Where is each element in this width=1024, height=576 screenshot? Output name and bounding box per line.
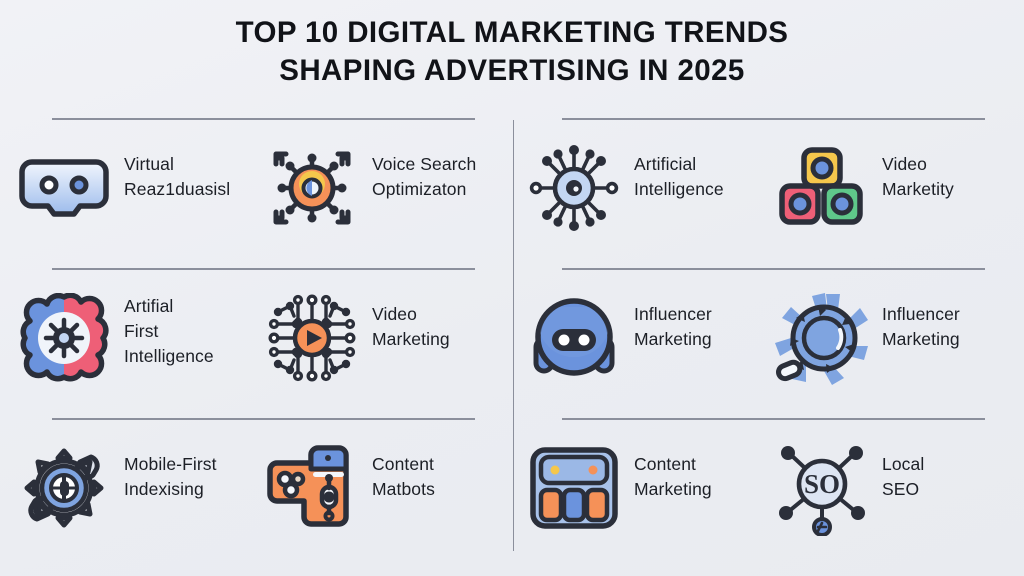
right-row-1: Artificial Intelligence Video Marketity <box>524 118 1021 268</box>
trend-item[interactable]: Artificial Intelligence <box>524 132 772 262</box>
trend-item[interactable]: Content Marketing <box>524 432 772 562</box>
trend-label: Local SEO <box>882 432 924 502</box>
trend-label: Influencer Marketing <box>882 282 960 352</box>
trend-label: Virtual Reaz1duasisl <box>124 132 230 202</box>
trend-label: Content Matbots <box>372 432 435 502</box>
row-divider <box>52 418 475 420</box>
right-row-3: Content Marketing <box>524 418 1021 568</box>
chatbot-phone-icon <box>262 432 362 544</box>
trend-label: Mobile-First Indexising <box>124 432 217 502</box>
trend-item[interactable]: Influencer Marketing <box>524 282 772 412</box>
trend-label: Voice Search Optimizaton <box>372 132 476 202</box>
trend-label: Influencer Marketing <box>634 282 712 352</box>
blue-gear-icon <box>772 282 872 394</box>
video-network-play-icon <box>262 282 362 394</box>
trend-item[interactable]: Artifial First Intelligence <box>14 282 262 412</box>
voice-search-gear-icon <box>262 132 362 244</box>
trend-label: Content Marketing <box>634 432 712 502</box>
row-divider <box>562 118 985 120</box>
trend-item[interactable]: Video Marketing <box>262 282 510 412</box>
row-divider <box>562 418 985 420</box>
row-divider <box>52 118 475 120</box>
trend-item[interactable]: Mobile-First Indexising <box>14 432 262 562</box>
left-row-3: Mobile-First Indexising <box>14 418 511 568</box>
mobile-gear-target-icon <box>14 432 114 544</box>
trend-label: Video Marketity <box>882 132 954 202</box>
right-column: Artificial Intelligence Video Marketity <box>524 0 1021 576</box>
browser-layout-icon <box>524 432 624 544</box>
left-column: Virtual Reaz1duasisl <box>14 0 511 576</box>
row-divider <box>562 268 985 270</box>
right-row-2: Influencer Marketing <box>524 268 1021 418</box>
trend-label: Artificial Intelligence <box>634 132 724 202</box>
seo-hub-spoke-icon: SO <box>772 432 872 544</box>
trend-item[interactable]: Influencer Marketing <box>772 282 1020 412</box>
ai-flower-gear-icon <box>14 282 114 394</box>
trend-item[interactable]: Video Marketity <box>772 132 1020 262</box>
neural-hub-icon <box>524 132 624 244</box>
row-divider <box>52 268 475 270</box>
three-blocks-icon <box>772 132 872 244</box>
trend-label: Artifial First Intelligence <box>124 282 214 369</box>
trend-label: Video Marketing <box>372 282 450 352</box>
bot-head-icon <box>524 282 624 394</box>
trend-item[interactable]: Content Matbots <box>262 432 510 562</box>
trend-item[interactable]: SO Local SEO <box>772 432 1020 562</box>
left-row-2: Artifial First Intelligence <box>14 268 511 418</box>
trend-item[interactable]: Virtual Reaz1duasisl <box>14 132 262 262</box>
svg-text:SO: SO <box>804 469 840 499</box>
infographic-canvas: TOP 10 DIGITAL MARKETING TRENDS SHAPING … <box>0 0 1024 576</box>
left-row-1: Virtual Reaz1duasisl <box>14 118 511 268</box>
vr-headset-icon <box>14 132 114 244</box>
vertical-divider <box>513 120 514 551</box>
trend-item[interactable]: Voice Search Optimizaton <box>262 132 510 262</box>
